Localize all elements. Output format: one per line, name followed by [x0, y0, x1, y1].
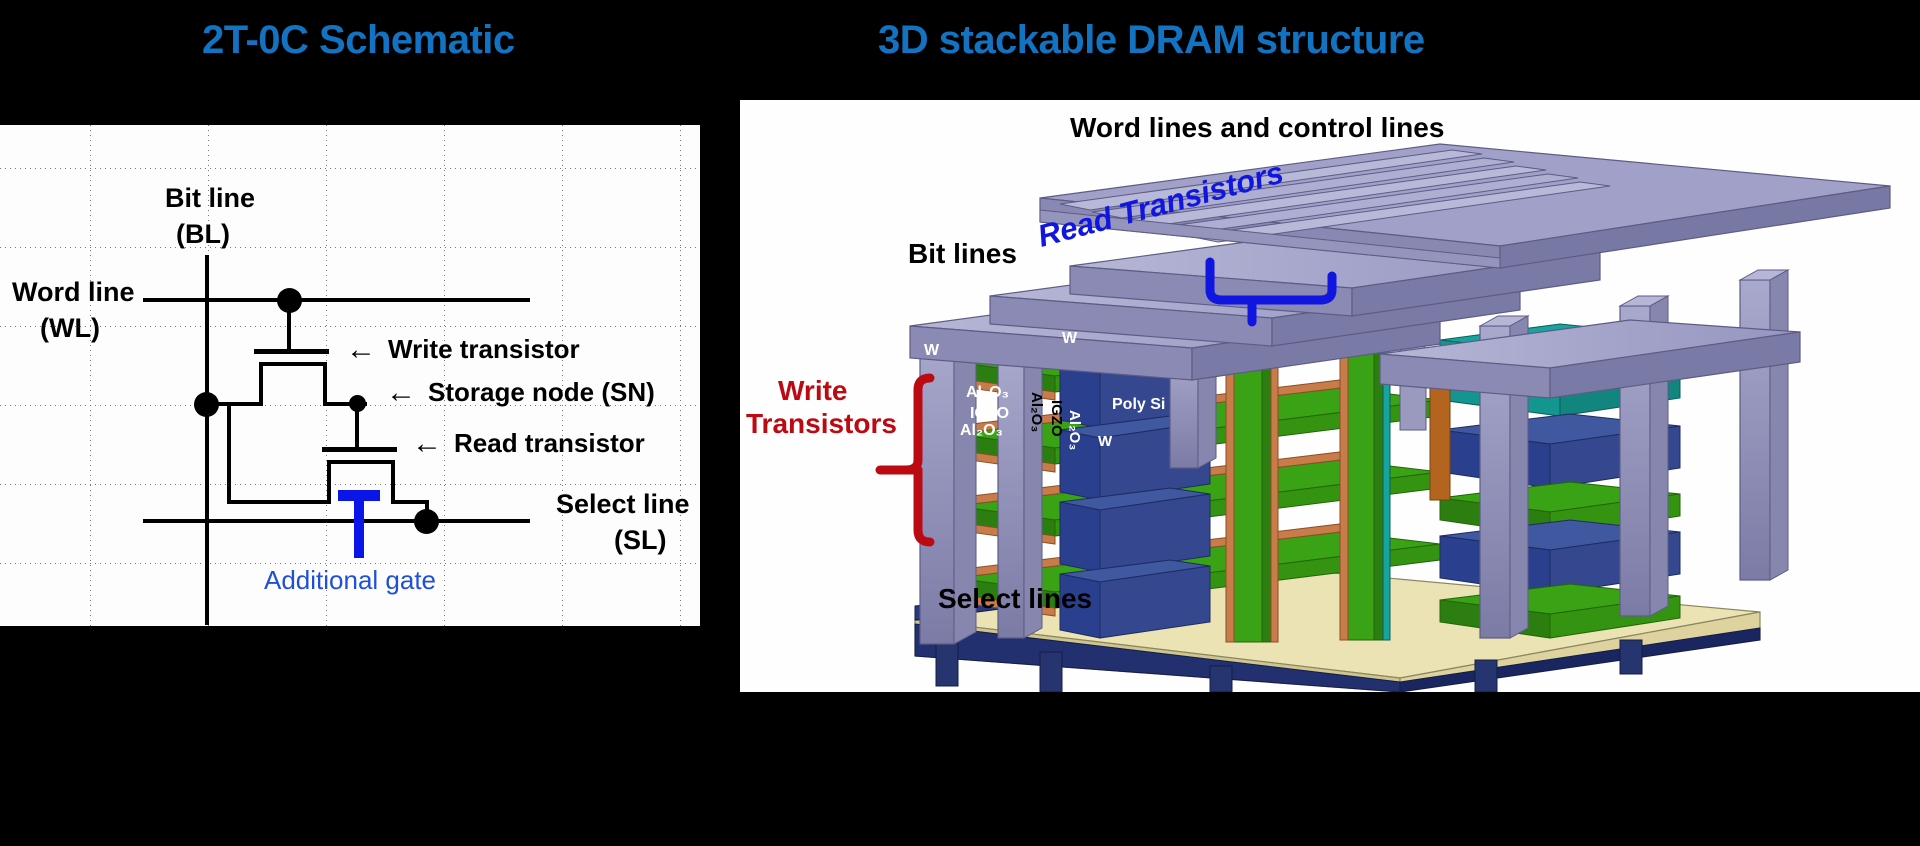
schematic-panel: Bit line (BL) Word line (WL) Select line…: [0, 125, 700, 626]
write-gate-plate: [254, 349, 329, 354]
material-label-igzo-vert: IGZO: [1048, 400, 1065, 437]
material-label-al2o3-bottom: Al₂O₃: [960, 422, 1003, 440]
left-arrow-icon-storage: ←: [386, 376, 416, 410]
bit-line-label-line1: Bit line: [165, 183, 255, 214]
select-line-wire: [143, 519, 530, 523]
additional-gate-label: Additional gate: [264, 565, 436, 596]
material-label-polysi: Poly Si: [1112, 396, 1165, 414]
structure3d-panel: Word lines and control lines Bit lines R…: [740, 100, 1920, 692]
write-gate-stem: [287, 311, 291, 350]
write-transistors-label-line1: Write: [778, 375, 848, 407]
storage-node-label: Storage node (SN): [428, 377, 655, 408]
write-transistor-label: Write transistor: [388, 334, 580, 365]
read-channel-left: [327, 460, 331, 504]
material-label-w-top: W: [1062, 330, 1077, 348]
read-gate-stem: [355, 411, 359, 448]
material-label-al2o3-vert-2: Al₂O₃: [1066, 410, 1083, 450]
word-line-wire: [143, 298, 530, 302]
storage-node-dot: [349, 395, 366, 412]
write-channel-left: [259, 362, 263, 406]
dram-3d-illustration: [740, 100, 1920, 692]
material-label-w-mid: W: [1098, 433, 1112, 450]
bit-line-label-line2: (BL): [176, 219, 230, 250]
left-arrow-icon-write: ←: [346, 333, 376, 367]
write-transistors-label-line2: Transistors: [746, 408, 897, 440]
word-line-label-line2: (WL): [40, 313, 100, 344]
left-arrow-icon-read: ←: [412, 427, 442, 461]
read-gate-plate: [322, 447, 397, 452]
word-lines-label: Word lines and control lines: [1070, 112, 1444, 144]
bit-lines-label: Bit lines: [908, 238, 1017, 270]
read-transistor-label: Read transistor: [454, 428, 645, 459]
read-channel-right: [391, 460, 395, 504]
page-title-right: 3D stackable DRAM structure: [878, 18, 1425, 63]
word-line-label-line1: Word line: [12, 277, 135, 308]
page-title-left: 2T-0C Schematic: [202, 18, 515, 63]
write-channel-right: [323, 362, 327, 406]
bit-line-wire: [205, 255, 209, 625]
material-label-al2o3-top: Al₂O₃: [966, 384, 1009, 402]
read-drain-horizontal: [391, 500, 429, 504]
material-label-al2o3-vert-1: Al₂O₃: [1028, 392, 1045, 432]
select-line-label-line2: (SL): [614, 525, 666, 556]
additional-gate-stem: [354, 490, 364, 558]
bit-line-node-dot: [194, 392, 219, 417]
select-line-node-dot: [414, 509, 439, 534]
read-channel-top: [327, 460, 395, 464]
select-lines-label: Select lines: [938, 583, 1092, 615]
material-label-igzo: IGZO: [970, 405, 1009, 423]
read-source-vertical: [227, 404, 231, 504]
write-channel-top: [259, 362, 327, 366]
word-line-node-dot: [277, 288, 302, 313]
material-label-w-left: W: [924, 342, 939, 360]
select-line-label-line1: Select line: [556, 489, 690, 520]
read-source-horizontal: [227, 500, 331, 504]
